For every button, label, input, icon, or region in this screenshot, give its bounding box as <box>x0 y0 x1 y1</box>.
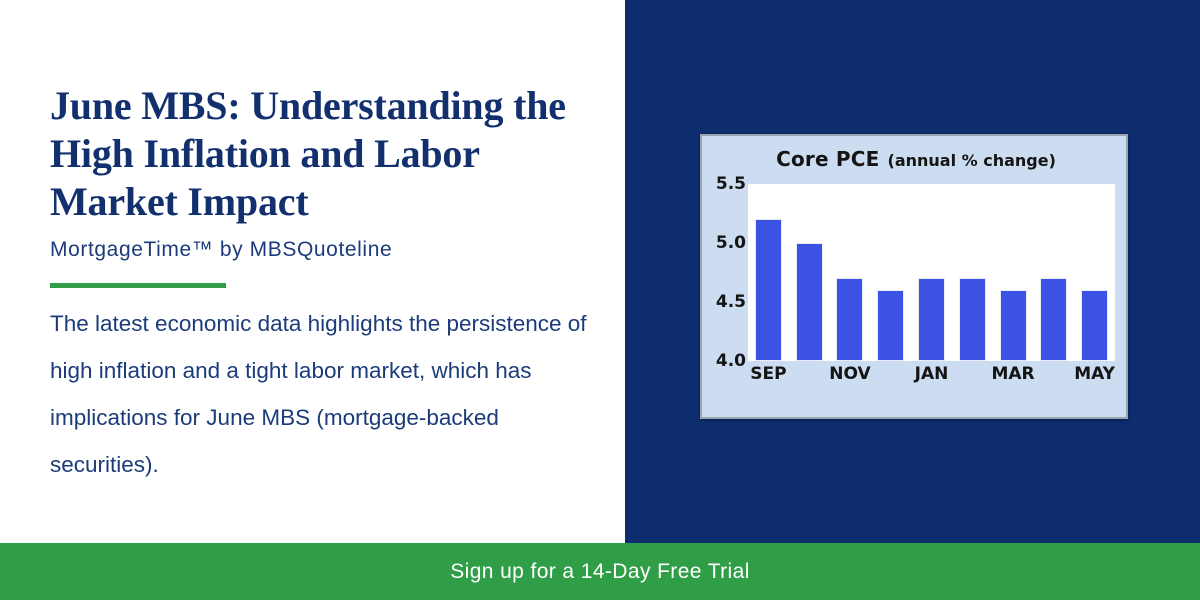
article-summary: The latest economic data highlights the … <box>50 300 590 488</box>
chart-title: Core PCE(annual % change) <box>702 147 1130 171</box>
bar <box>1000 290 1027 361</box>
bar <box>959 278 986 361</box>
brand-label: MortgageTime™ by MBSQuoteline <box>50 238 595 262</box>
signup-cta-label: Sign up for a 14-Day Free Trial <box>450 560 750 584</box>
y-axis-tick-label: 4.5 <box>716 292 746 312</box>
bar <box>796 243 823 361</box>
accent-divider <box>50 283 226 288</box>
bar <box>1040 278 1067 361</box>
bar <box>836 278 863 361</box>
y-axis-tick-label: 5.0 <box>716 233 746 253</box>
core-pce-bar-chart: Core PCE(annual % change) 5.55.04.54.0 S… <box>700 134 1128 419</box>
y-axis-tick-label: 4.0 <box>716 351 746 371</box>
x-axis: SEPNOVJANMARMAY <box>748 364 1115 390</box>
x-axis-tick-label: JAN <box>915 364 949 384</box>
y-axis-tick-label: 5.5 <box>716 174 746 194</box>
article-panel: June MBS: Understanding the High Inflati… <box>0 0 625 543</box>
x-axis-tick-label: NOV <box>829 364 870 384</box>
bar <box>755 219 782 361</box>
bar <box>918 278 945 361</box>
x-axis-tick-label: MAR <box>991 364 1034 384</box>
chart-title-main: Core PCE <box>776 147 879 171</box>
x-axis-tick-label: MAY <box>1074 364 1115 384</box>
promo-graphic: June MBS: Understanding the High Inflati… <box>0 0 1200 600</box>
chart-title-subtitle: (annual % change) <box>888 151 1056 170</box>
x-axis-tick-label: SEP <box>750 364 786 384</box>
bar <box>877 290 904 361</box>
plot-area <box>748 184 1115 361</box>
page-title: June MBS: Understanding the High Inflati… <box>50 82 595 226</box>
bar <box>1081 290 1108 361</box>
y-axis: 5.55.04.54.0 <box>706 184 746 361</box>
signup-cta-banner[interactable]: Sign up for a 14-Day Free Trial <box>0 543 1200 600</box>
bar-series <box>748 184 1115 361</box>
